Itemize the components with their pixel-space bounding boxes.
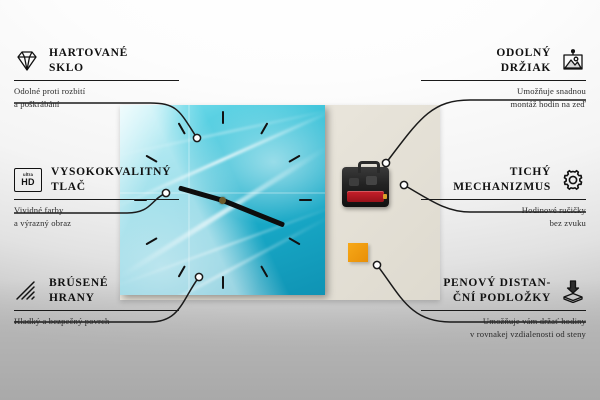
foam-spacer-pad [348, 243, 368, 262]
divider [421, 310, 586, 311]
mechanism-knob [349, 178, 359, 186]
divider [14, 199, 179, 200]
feature-title: PENOVÝ DISTAN- ČNÍ PODLOŽKY [443, 276, 551, 306]
clock-mechanism [342, 167, 389, 207]
wall-mount-icon [560, 49, 586, 73]
brushed-edges-icon [14, 279, 40, 303]
feature-description: Umožňuje vám držať hodiny v rovnakej vzd… [421, 315, 586, 339]
mechanism-knob-secondary [366, 176, 377, 185]
feature-high-quality-print: ultra HD VYSOKOKVALITNÝ TLAČ Vividné far… [14, 165, 179, 229]
feature-title: VYSOKOKVALITNÝ TLAČ [51, 165, 171, 195]
battery [347, 191, 384, 202]
feature-description: Hodinové ručičky bez zvuku [421, 204, 586, 228]
divider [14, 310, 179, 311]
divider [14, 80, 179, 81]
mechanism-hanger [358, 161, 380, 173]
feature-foam-spacers: PENOVÝ DISTAN- ČNÍ PODLOŽKY Umožňuje vám… [421, 276, 586, 340]
feature-description: Vividné farby a výrazný obraz [14, 204, 179, 228]
feature-title: BRÚSENÉ HRANY [49, 276, 108, 306]
feature-silent-mechanism: TICHÝ MECHANIZMUS Hodinové ručičky bez z… [421, 165, 586, 229]
gear-icon [560, 168, 586, 192]
feature-durable-mount: ODOLNÝ DRŽIAK Umožňuje snadnou montáž ho… [421, 46, 586, 110]
foam-pad-icon [560, 279, 586, 303]
infographic-stage: HARTOVANÉ SKLO Odolné proti rozbití a po… [0, 0, 600, 400]
ultra-hd-icon: ultra HD [14, 168, 42, 192]
feature-description: Umožňuje snadnou montáž hodin na zeď [421, 85, 586, 109]
clock-center-pin [219, 197, 226, 204]
feature-title: HARTOVANÉ SKLO [49, 46, 128, 76]
feature-description: Hladký a bezpečný povrch [14, 315, 179, 327]
feature-title: ODOLNÝ DRŽIAK [496, 46, 551, 76]
feature-hardened-glass: HARTOVANÉ SKLO Odolné proti rozbití a po… [14, 46, 179, 110]
divider [421, 80, 586, 81]
diamond-icon [14, 49, 40, 73]
feature-description: Odolné proti rozbití a poškrábání [14, 85, 179, 109]
divider [421, 199, 586, 200]
feature-brushed-edges: BRÚSENÉ HRANY Hladký a bezpečný povrch [14, 276, 179, 328]
feature-title: TICHÝ MECHANIZMUS [453, 165, 551, 195]
